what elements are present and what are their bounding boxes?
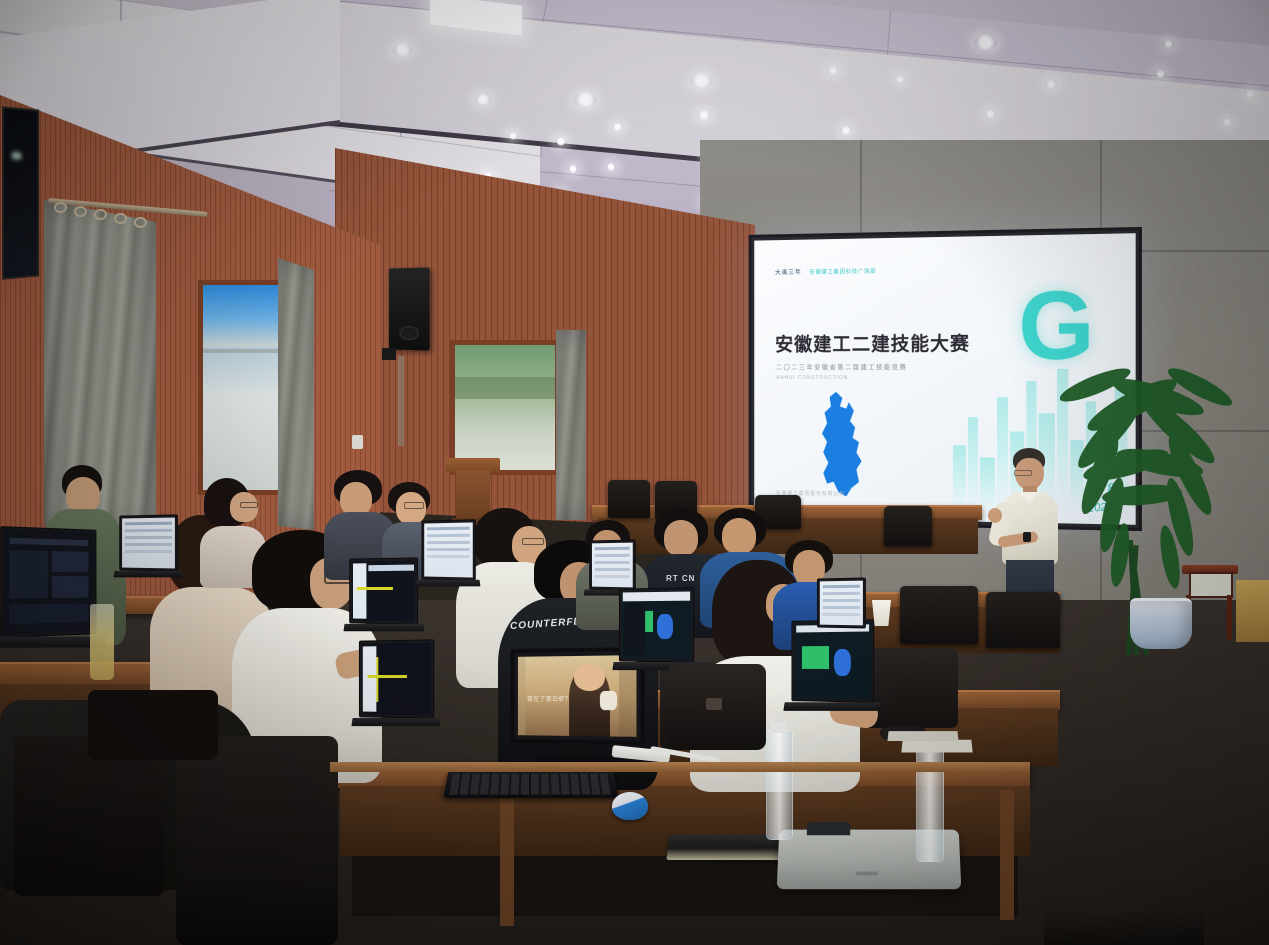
desk-leg — [500, 786, 514, 926]
attendee-glasses-icon — [404, 502, 424, 509]
porcelain-plant-pot — [1130, 598, 1192, 649]
downlight — [1155, 70, 1166, 78]
display-glare — [11, 152, 22, 160]
downlight — [1222, 118, 1232, 126]
downlight — [974, 35, 997, 50]
downlight — [1045, 80, 1057, 89]
paper-sheet — [887, 731, 958, 741]
chair[interactable] — [88, 690, 218, 760]
downlight — [840, 126, 852, 135]
water-bottle[interactable] — [766, 730, 793, 840]
speaker-bracket — [382, 348, 396, 360]
laptop[interactable] — [358, 640, 442, 740]
curtain-grommet — [54, 202, 67, 213]
slide-brand-subtext: 安徽建工集团科技广场部 — [809, 266, 876, 275]
slide-subtitle-secondary: ANHUI CONSTRUCTION — [776, 375, 848, 381]
classroom-photo-scene: 大禹三年 安徽建工集团科技广场部 G 安徽建工二建技能大赛 二〇二三年安徽省第二… — [0, 0, 1269, 945]
window-center — [450, 340, 560, 475]
paper-cup[interactable] — [872, 600, 891, 626]
speaker-cone — [399, 326, 418, 340]
curtain-center — [556, 330, 586, 520]
laptop[interactable] — [816, 578, 872, 642]
downlight — [393, 43, 412, 56]
attendee-glasses-icon — [240, 502, 258, 508]
chair[interactable] — [1044, 905, 1204, 945]
curtain-grommet — [114, 213, 127, 224]
chair[interactable] — [176, 736, 338, 945]
curtain-grommet — [94, 209, 107, 220]
desk-leg — [1000, 790, 1014, 920]
downlight — [606, 163, 616, 171]
screen-office-doc[interactable] — [820, 581, 863, 626]
slide-brand-text: 大禹三年 — [775, 267, 802, 276]
attendee-head — [664, 520, 698, 556]
notebook[interactable] — [666, 835, 783, 860]
slide-header: 大禹三年 安徽建工集团科技广场部 — [775, 266, 876, 276]
downlight — [895, 76, 905, 83]
downlight — [690, 73, 713, 88]
sleeve-handle — [807, 822, 851, 835]
downlight — [612, 123, 623, 131]
screen-dark-ide[interactable] — [3, 529, 93, 634]
drink-bottle-yellow[interactable] — [90, 604, 114, 680]
presenter-wristwatch — [1023, 532, 1031, 542]
presenter-hand-left — [988, 508, 1002, 523]
screen-office-doc[interactable] — [424, 522, 473, 577]
downlight — [827, 66, 839, 75]
attendee-head — [66, 477, 100, 513]
attendee-head — [722, 518, 756, 554]
screen-office-doc[interactable] — [122, 518, 175, 569]
window-left — [198, 280, 286, 495]
downlight — [568, 165, 578, 173]
computer-mouse[interactable] — [612, 792, 648, 820]
laptop[interactable] — [118, 515, 184, 587]
desk-foreground-edge — [330, 762, 1030, 772]
curtain-left-right-panel — [278, 258, 314, 530]
attendee-head — [340, 482, 372, 516]
downlight — [697, 110, 711, 120]
presenter-glasses-icon — [1014, 470, 1032, 476]
chair — [900, 586, 978, 644]
downlight — [574, 92, 597, 107]
slide-title: 安徽建工二建技能大赛 — [775, 329, 970, 357]
curtain-grommet — [74, 206, 87, 217]
chair — [884, 506, 932, 546]
screen-cad-yellow[interactable] — [352, 560, 415, 621]
chair-logo — [706, 698, 722, 710]
video-subtitle: 做在了那白虾？ — [527, 694, 571, 703]
mechanical-keyboard[interactable] — [443, 771, 618, 798]
sleeve-logo — [856, 872, 878, 876]
downlight — [1245, 90, 1255, 98]
curtain-grommet — [134, 217, 147, 228]
screen-teal-chart[interactable] — [622, 591, 691, 660]
screen-office-doc[interactable] — [592, 543, 633, 588]
paper-sheet — [901, 740, 972, 753]
downlight — [985, 110, 996, 118]
wall-cable-conduit — [398, 356, 404, 446]
screen-cad-yellow[interactable] — [362, 642, 431, 715]
downlight — [475, 94, 491, 105]
laptop[interactable] — [420, 520, 482, 596]
chair — [986, 592, 1060, 648]
downlight — [1163, 40, 1174, 48]
wall-display — [2, 106, 39, 279]
slide-subtitle: 二〇二三年安徽省第二届建工技能竞赛 — [776, 361, 907, 371]
downlight — [555, 137, 567, 146]
laptop[interactable] — [348, 558, 426, 644]
anhui-province-map-graphic — [809, 392, 873, 497]
chair[interactable] — [14, 736, 164, 896]
bottle-cap — [771, 722, 786, 733]
wall-alarm-device — [352, 435, 363, 449]
cardboard-boxes — [1236, 580, 1269, 642]
wall-speaker — [389, 267, 430, 350]
downlight — [508, 132, 518, 140]
